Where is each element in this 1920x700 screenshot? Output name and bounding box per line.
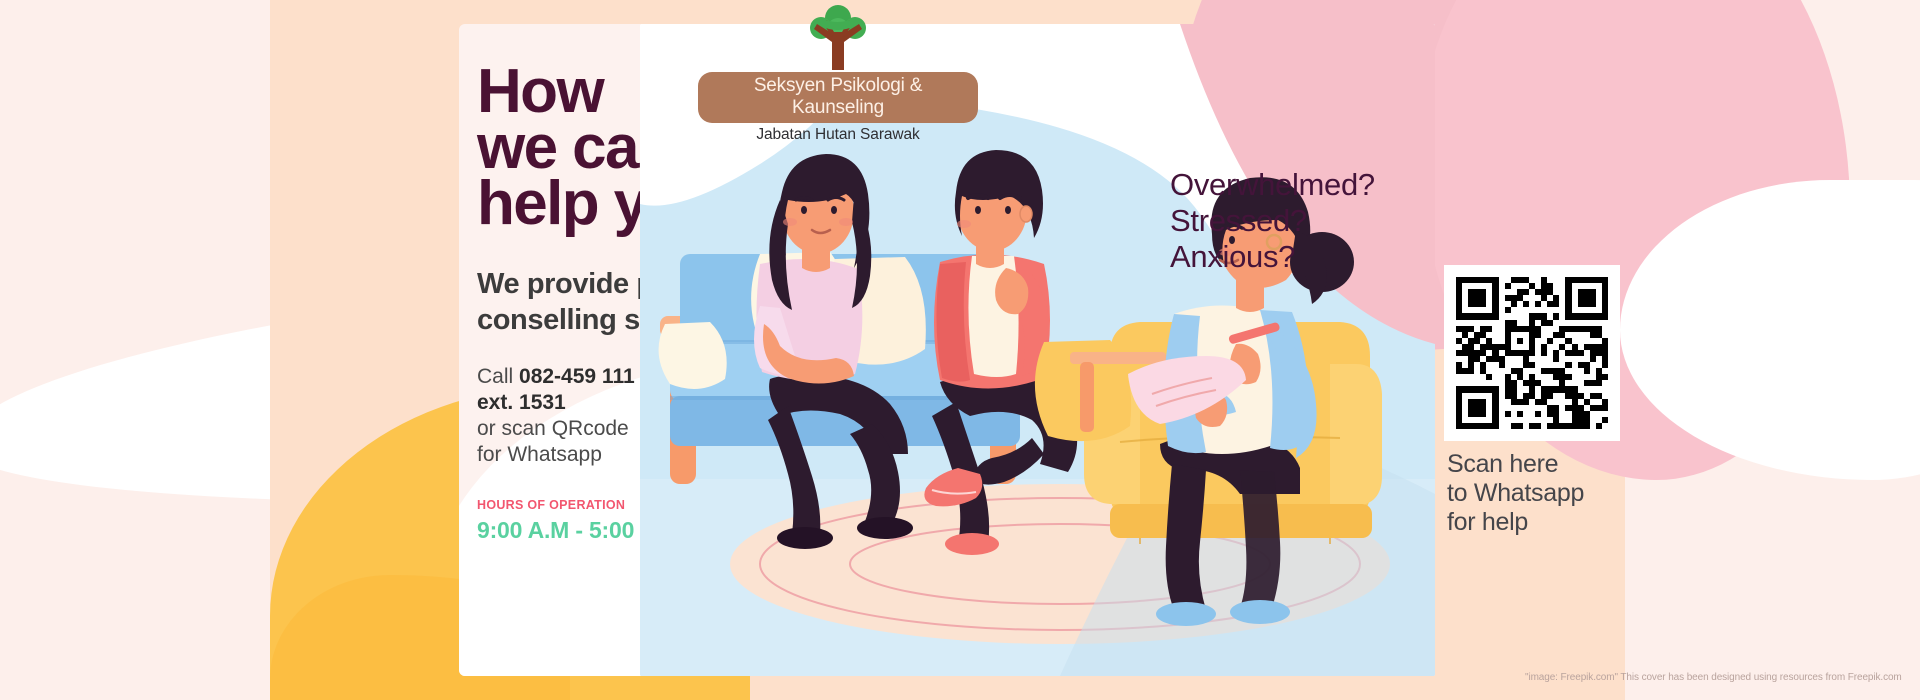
attribution-text: "image: Freepik.com" This cover has been… (1525, 672, 1902, 683)
phone-number: 082-459 111 (519, 365, 635, 388)
qr-code-card[interactable] (1444, 265, 1620, 441)
question-anxious: Anxious? (1170, 239, 1375, 275)
qr-caption-line-3: for help (1447, 508, 1647, 537)
question-overwhelmed: Overwhelmed? (1170, 167, 1375, 203)
call-prefix-label: Call (477, 365, 519, 388)
organisation-logo: Seksyen Psikologi & Kaunseling Jabatan H… (698, 4, 978, 144)
question-block: Overwhelmed? Stressed? Anxious? (1170, 167, 1375, 275)
tree-logo-icon (799, 4, 877, 70)
qr-code-icon[interactable] (1456, 277, 1608, 429)
question-stressed: Stressed? (1170, 203, 1375, 239)
logo-band-label: Seksyen Psikologi & Kaunseling (698, 72, 978, 123)
qr-caption-line-2: to Whatsapp (1447, 479, 1647, 508)
poster-canvas: How we can help you We provide private c… (0, 0, 1920, 700)
qr-caption-line-1: Scan here (1447, 450, 1647, 479)
logo-subtitle: Jabatan Hutan Sarawak (698, 126, 978, 144)
qr-caption: Scan here to Whatsapp for help (1447, 450, 1647, 537)
